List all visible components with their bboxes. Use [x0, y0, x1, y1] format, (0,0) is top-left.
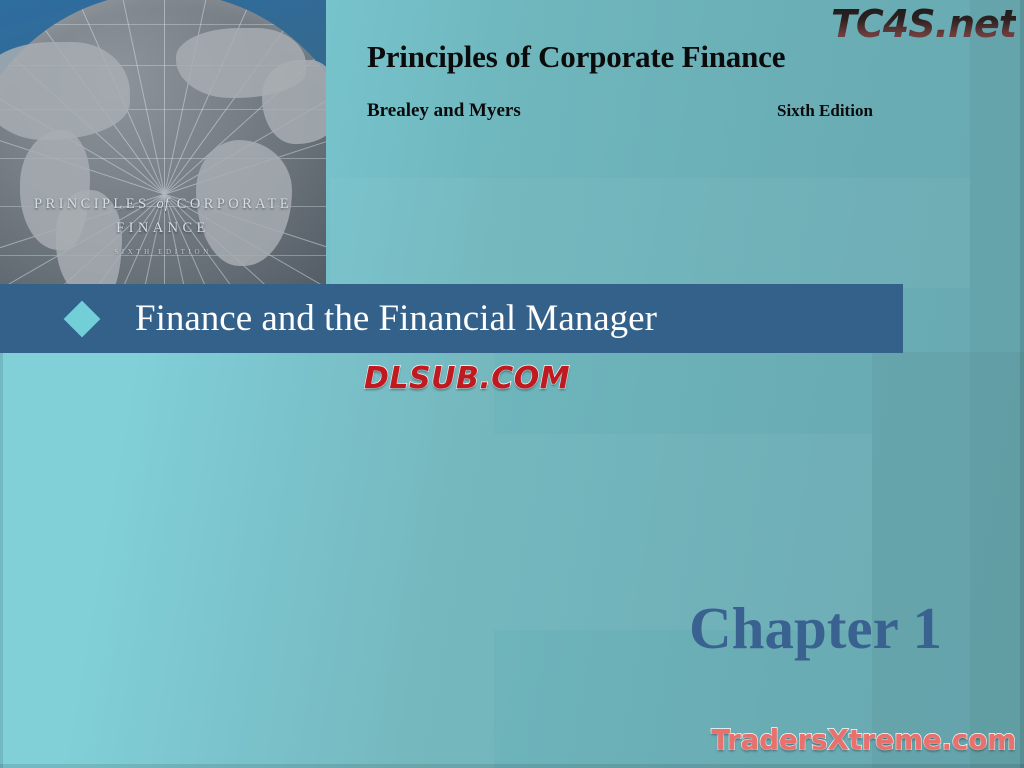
slide-title: Finance and the Financial Manager: [135, 297, 657, 340]
globe-landmass: [56, 190, 122, 286]
slide-edge-left: [0, 352, 3, 768]
chapter-label: Chapter 1: [689, 594, 942, 663]
slide-title-band: Finance and the Financial Manager: [0, 284, 903, 353]
book-edition: Sixth Edition: [777, 101, 873, 121]
watermark-center: DLSUB.COM: [364, 361, 570, 396]
globe-landmass: [262, 60, 326, 144]
book-title: Principles of Corporate Finance: [367, 39, 785, 75]
slide-edge-bottom: [0, 764, 1024, 768]
slide-edge-right: [1020, 0, 1024, 768]
globe-landmass: [0, 42, 130, 140]
diamond-bullet-icon: [64, 300, 101, 337]
watermark-bottom-right: TradersXtreme.com: [711, 723, 1016, 756]
book-authors: Brealey and Myers: [367, 100, 521, 122]
watermark-top-right: TC4S.net: [831, 2, 1016, 46]
globe-book-cover-image: PRINCIPLES of CORPORATE FINANCE SIXTH ED…: [0, 0, 326, 286]
presentation-slide: PRINCIPLES of CORPORATE FINANCE SIXTH ED…: [0, 0, 1024, 768]
